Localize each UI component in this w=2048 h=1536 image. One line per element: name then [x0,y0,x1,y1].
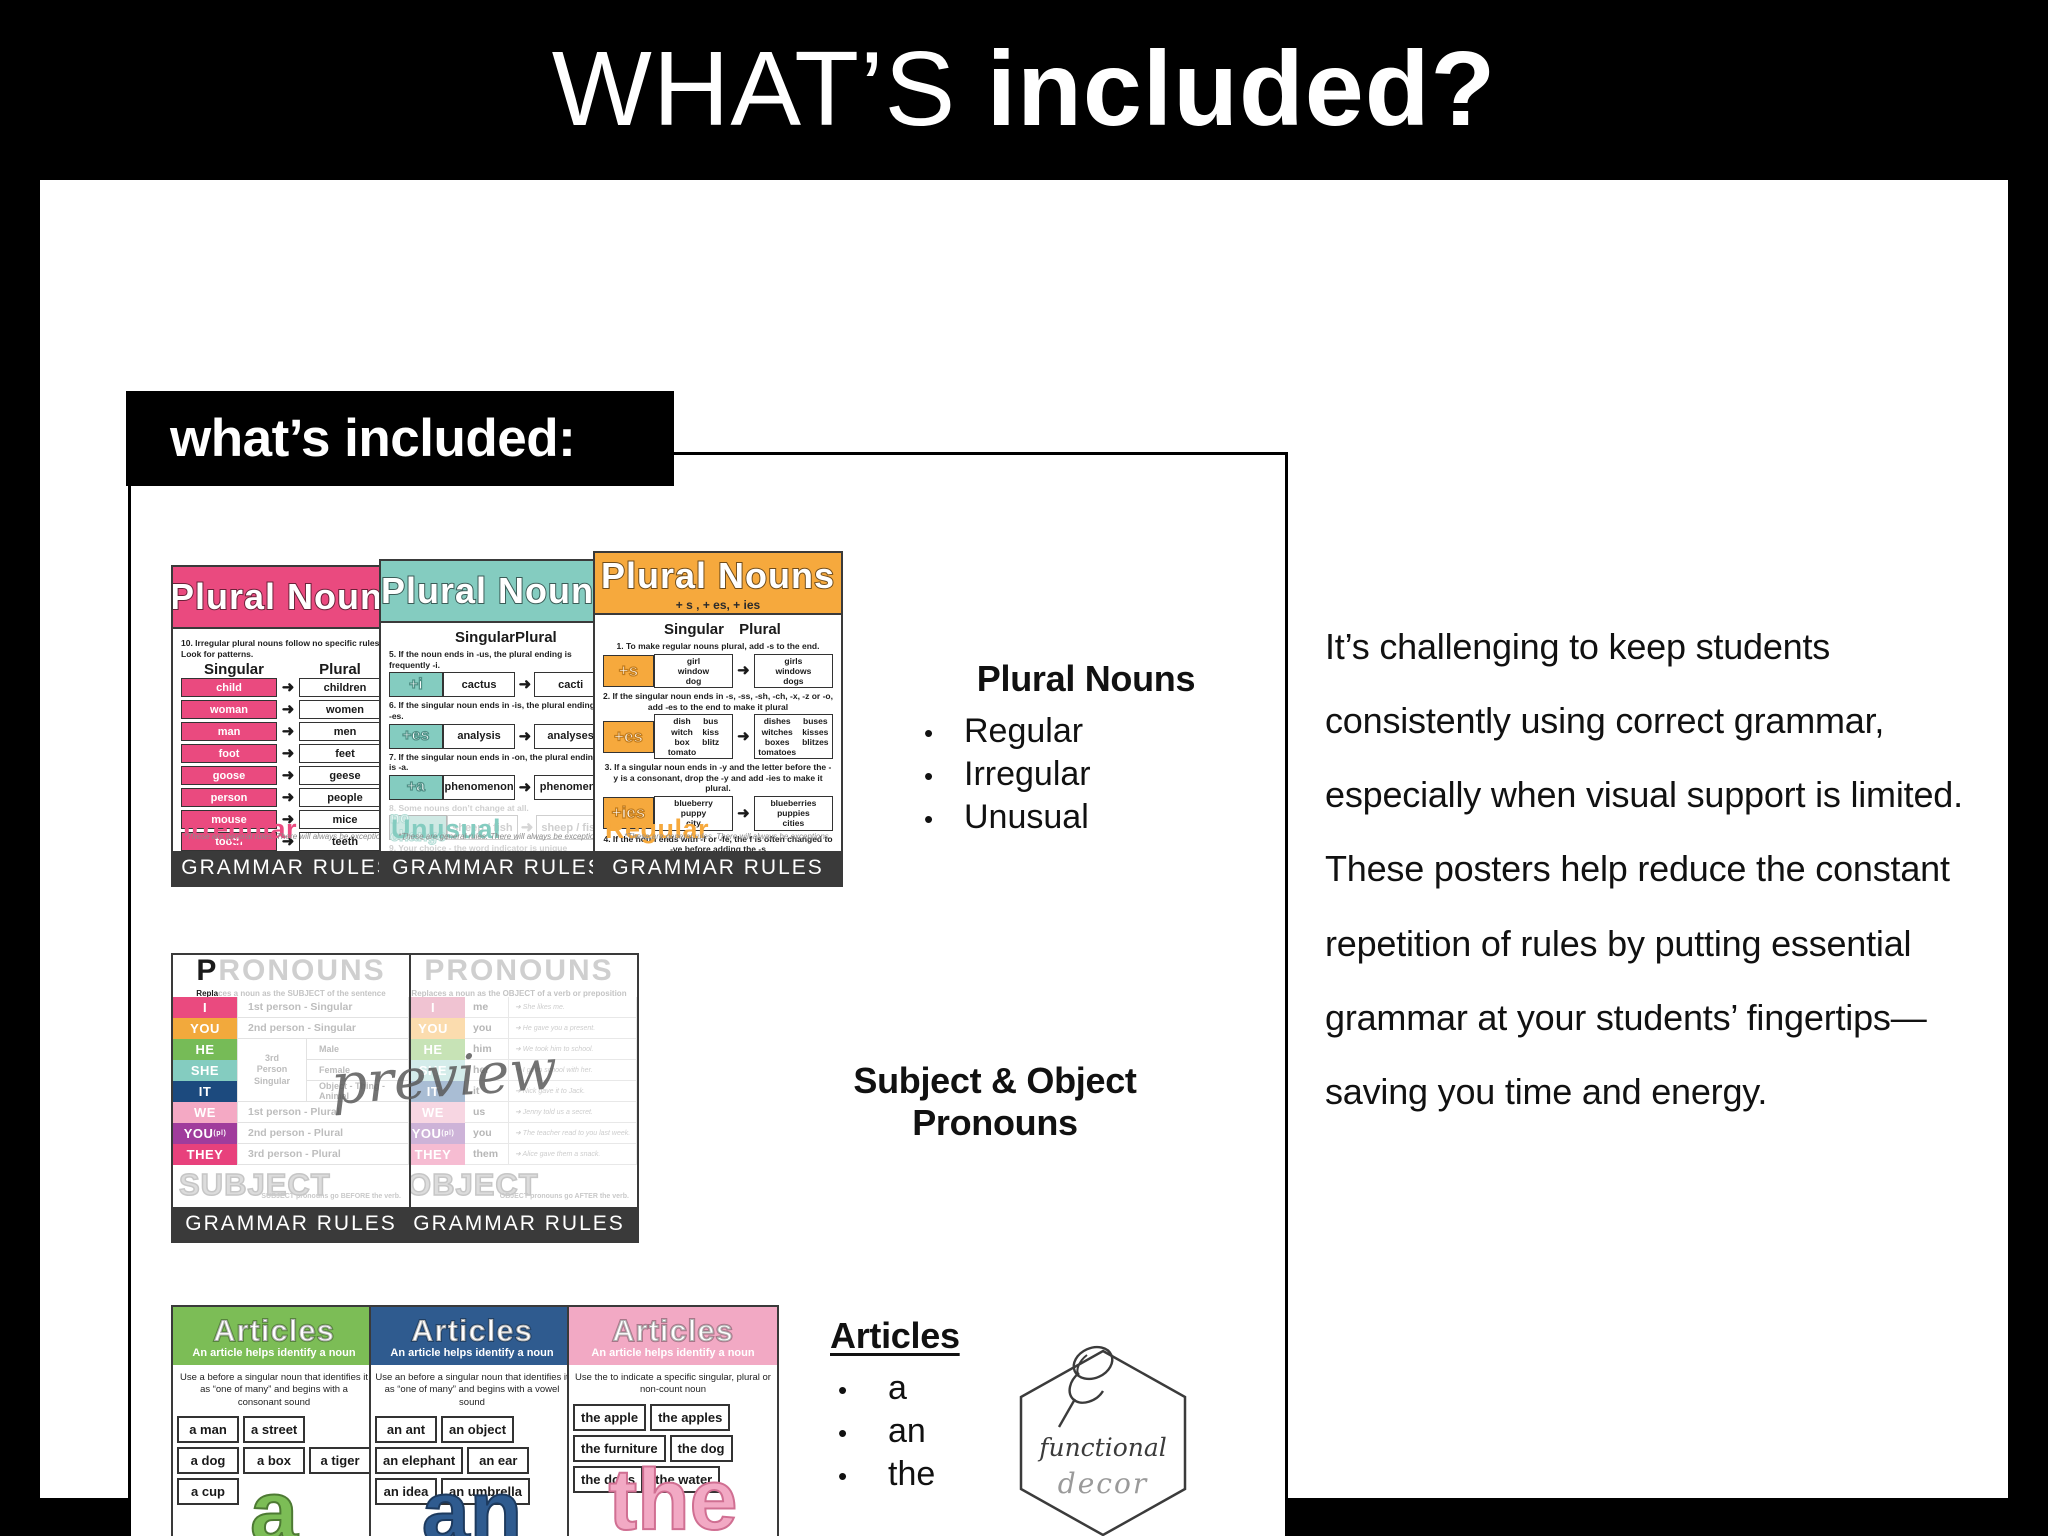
poster-header: Plural Nouns [381,561,615,623]
example-cell: an object [441,1416,514,1443]
table-row: foot➜feet [181,744,393,763]
example-sentence: ➜ Jenny told us a secret. [509,1102,637,1123]
bullet-icon: • [916,803,964,836]
table-row: woman➜women [181,700,393,719]
poster-title: PRONOUNS [196,954,385,988]
table-row: Ime➜ She likes me. [401,997,637,1018]
ending-tag: +i [389,672,443,697]
pronoun-chip: YOU(pl) [173,1123,237,1144]
bullet-icon: • [830,1460,888,1493]
rule-text: 6. If the singular noun ends in -is, the… [389,700,607,721]
example-sentence: ➜ We took him to school. [509,1039,637,1060]
column-header-plural: Plural [727,621,793,638]
page-title: WHAT’S included? [552,29,1496,150]
example-sentence: ➜ The teacher read to you last week. [509,1123,637,1144]
example-sentence: ➜ She likes me. [509,997,637,1018]
description-paragraph: It’s challenging to keep students consis… [1325,610,2015,1129]
pronoun-description: 2nd person - Plural [237,1123,409,1144]
singular-cell: person [181,788,277,807]
list-item-label: a [888,1367,907,1410]
singular-cell: cactus [443,672,516,697]
singular-cell: man [181,722,277,741]
table-row: ITit➜ Nick gave it to Jack. [401,1081,637,1102]
pronoun-description: 1st person - Singular [237,997,409,1018]
push-pin-icon [1047,1341,1133,1433]
arrow-icon: ➜ [277,702,299,717]
caption-title: Plural Nouns [916,658,1256,700]
example-cell: a street [243,1416,305,1443]
rule-text: 3. If a singular noun ends in -y and the… [603,762,833,794]
arrow-icon: ➜ [277,680,299,695]
list-item: •Irregular [916,753,1256,796]
poster-header: Plural Nouns + s , + es, + ies [595,553,841,615]
arrow-icon: ➜ [277,724,299,739]
object-pronouns-table: Ime➜ She likes me.YOUyou➜ He gave you a … [401,997,637,1165]
arrow-icon: ➜ [515,729,534,744]
brand-logo: functional decor [1005,1335,1201,1536]
poster-rule: 10. Irregular plural nouns follow no spe… [181,638,393,659]
list-item-label: Regular [964,710,1083,753]
poster-subtitle: An article helps identify a noun [591,1347,754,1359]
poster-body: Singular Plural 1. To make regular nouns… [595,615,841,887]
table-row: +sgirlwindowdog➜girlswindowsdogs [603,654,833,689]
caption-pronouns: Subject & Object Pronouns [780,1060,1210,1144]
poster-footer: GRAMMAR RULES [401,1207,637,1241]
bullet-icon: • [916,760,964,793]
plural-cell: mice [299,810,391,829]
table-row: +esdishwitchboxtomatobuskissblitz➜dishes… [603,714,833,759]
poster-note: OBJECT pronouns go AFTER the verb. [500,1192,629,1201]
rule-text: 7. If the singular noun ends in -on, the… [389,752,607,773]
table-row: person➜people [181,788,393,807]
bullet-icon: • [830,1417,888,1450]
pronoun-chip: YOU [173,1018,237,1039]
column-header-singular: Singular [181,661,287,678]
arrow-icon: ➜ [733,729,754,744]
pronoun-description: Female [307,1060,409,1081]
plural-cell: geese [299,766,391,785]
singular-cell: phenomenon [443,775,516,800]
table-row: SHEher➜ I go to school with her. [401,1060,637,1081]
rule-text: 2. If the singular noun ends in -s, -ss,… [603,691,833,712]
plural-cell: men [299,722,391,741]
plural-cell: women [299,700,391,719]
singular-cell: analysis [443,724,516,749]
poster-header: PRONOUNS Replaces a noun as the SUBJECT … [173,955,409,997]
pronoun-description: 1st person - Plural [237,1102,409,1123]
poster-plural-nouns-unusual[interactable]: Plural Nouns Singular Plural 5. If the n… [379,559,617,887]
poster-footer: GRAMMAR RULES [173,851,401,885]
pronoun-description: Male [307,1039,409,1060]
table-row: HEhim➜ We took him to school. [401,1039,637,1060]
poster-header: Articles An article helps identify a nou… [173,1307,375,1365]
arrow-icon: ➜ [515,677,534,692]
table-row: +icactus➜cacti [389,672,607,697]
list-item: •Unusual [916,796,1256,839]
poster-big-letter: an [371,1474,573,1536]
object-form: her [465,1060,509,1081]
poster-subtitle: An article helps identify a noun [390,1347,553,1359]
object-form: them [465,1144,509,1165]
poster-title-accent: P [196,954,218,987]
list-item: •Regular [916,710,1256,753]
poster-footer: GRAMMAR RULES [595,851,841,885]
arrow-icon: ➜ [277,790,299,805]
poster-header: Plural Nouns [173,567,401,629]
singular-cell: child [181,678,277,697]
table-row: THEYthem➜ Alice gave them a snack. [401,1144,637,1165]
poster-article-a[interactable]: Articles An article helps identify a nou… [171,1305,377,1536]
header-band: WHAT’S included? [0,0,2048,178]
singular-cell: foot [181,744,277,763]
pronoun-chip: I [173,997,237,1018]
poster-plural-nouns-regular[interactable]: Plural Nouns + s , + es, + ies Singular … [593,551,843,887]
table-row: goose➜geese [181,766,393,785]
example-sentence: ➜ I go to school with her. [509,1060,637,1081]
table-row: +aphenomenon➜phenomena [389,775,607,800]
caption-plural-nouns: Plural Nouns •Regular•Irregular•Unusual [916,658,1256,840]
poster-big-letter: a [173,1474,375,1536]
poster-title: PRONOUNS [424,954,613,988]
poster-subject-pronouns[interactable]: PRONOUNS Replaces a noun as the SUBJECT … [171,953,411,1243]
rule-block: 6. If the singular noun ends in -is, the… [389,700,607,748]
pronoun-chip: IT [173,1081,237,1102]
table-row: man➜men [181,722,393,741]
caption-list: •Regular•Irregular•Unusual [916,710,1256,840]
arrow-icon: ➜ [277,746,299,761]
ending-tag: +es [389,724,443,749]
example-sentence: ➜ He gave you a present. [509,1018,637,1039]
column-header-plural: Plural [287,661,393,678]
rule-text: 5. If the noun ends in -us, the plural e… [389,649,607,670]
object-form: him [465,1039,509,1060]
plural-cell: people [299,788,391,807]
pronoun-description: 2nd person - Singular [237,1018,409,1039]
table-row: +esanalysis➜analyses [389,724,607,749]
poster-description: Use a before a singular noun that identi… [177,1372,371,1409]
plural-cell: feet [299,744,391,763]
table-row: YOUyou➜ He gave you a present. [401,1018,637,1039]
rule-block: 7. If the singular noun ends in -on, the… [389,752,607,800]
poster-note: *These are general rules. There will alw… [184,832,391,843]
poster-title: Articles [612,1313,734,1349]
list-item-label: the [888,1453,935,1496]
poster-object-pronouns[interactable]: PRONOUNS Replaces a noun as the OBJECT o… [399,953,639,1243]
object-form: me [465,997,509,1018]
example-cell: a dog [177,1447,239,1474]
poster-title: Plural Nouns [381,570,615,612]
column-header-singular: Singular [455,629,515,646]
list-item-label: Unusual [964,796,1089,839]
caption-title-line1: Subject & Object [780,1060,1210,1102]
poster-subtitle: An article helps identify a noun [192,1347,355,1359]
table-row: THEY3rd person - Plural [173,1144,409,1165]
singular-cell: dishwitchboxtomatobuskissblitz [654,714,733,759]
table-row: WEus➜ Jenny told us a secret. [401,1102,637,1123]
poster-title: Plural Nouns [601,555,835,597]
object-form: you [465,1123,509,1144]
example-cell: an ant [375,1416,437,1443]
poster-note: *These are general rules. There will alw… [398,832,605,843]
poster-article-an[interactable]: Articles An article helps identify a nou… [369,1305,575,1536]
ending-tag: +a [389,775,443,800]
example-sentence: ➜ Nick gave it to Jack. [509,1081,637,1102]
pronoun-chip: HE [173,1039,237,1060]
third-person-label: 3rdPersonSingular [237,1039,307,1102]
singular-cell: goose [181,766,277,785]
poster-footer: GRAMMAR RULES [173,1207,409,1241]
example-sentence: ➜ Alice gave them a snack. [509,1144,637,1165]
table-row: YOU(pl)you➜ The teacher read to you last… [401,1123,637,1144]
logo-text-primary: functional [1005,1433,1201,1462]
pronoun-description: Object - Thing - Animal [307,1081,409,1102]
slide-body: what’s included: Plural Nouns 10. Irregu… [40,180,2008,1498]
card-tab: what’s included: [126,391,674,486]
arrow-icon: ➜ [733,663,754,678]
object-form: it [465,1081,509,1102]
column-header-plural: Plural [515,629,557,646]
singular-cell: woman [181,700,277,719]
pronoun-chip: SHE [173,1060,237,1081]
third-person-descriptions: MaleFemaleObject - Thing - Animal [307,1039,409,1102]
table-row: WE1st person - Plural [173,1102,409,1123]
caption-title-line2: Pronouns [780,1102,1210,1144]
rule-text: 1. To make regular nouns plural, add -s … [603,641,833,652]
example-cell: a man [177,1416,239,1443]
object-form: you [465,1018,509,1039]
card-tab-label: what’s included: [170,408,575,469]
arrow-icon: ➜ [733,806,754,821]
page-title-bold: included? [987,30,1497,148]
poster-title: Articles [411,1313,533,1349]
example-cell: a tiger [309,1447,371,1474]
example-cell: the apples [650,1404,730,1431]
ending-tag: +s [603,655,654,687]
ending-tag: +es [603,721,654,753]
table-row: child➜children [181,678,393,697]
pronoun-chip: THEY [173,1144,237,1165]
poster-note: SUBJECT pronouns go BEFORE the verb. [261,1192,401,1201]
poster-subtitle: + s , + es, + ies [676,598,760,612]
rule-block: 5. If the noun ends in -us, the plural e… [389,649,607,697]
poster-header: Articles An article helps identify a nou… [569,1307,777,1365]
poster-big-letter: the [569,1462,777,1536]
poster-header: Articles An article helps identify a nou… [371,1307,573,1365]
column-headers: Singular Plural [389,629,607,646]
poster-title: Articles [213,1313,335,1349]
column-headers: Singular Plural [181,661,393,678]
bullet-icon: • [916,717,964,750]
chip-column: HESHEIT [173,1039,237,1102]
poster-title: Plural Nouns [171,576,403,618]
singular-cell: girlwindowdog [654,654,733,689]
table-row: YOU2nd person - Singular [173,1018,409,1039]
poster-description: Use the to indicate a specific singular,… [573,1372,773,1397]
poster-body: Singular Plural 5. If the noun ends in -… [381,623,615,887]
arrow-icon: ➜ [515,780,534,795]
plural-cell: disheswitchesboxestomatoesbuseskissesbli… [754,714,833,759]
bullet-icon: • [830,1374,888,1407]
table-row: YOU(pl)2nd person - Plural [173,1123,409,1144]
arrow-icon: ➜ [277,768,299,783]
poster-plural-nouns-irregular[interactable]: Plural Nouns 10. Irregular plural nouns … [171,565,403,887]
list-item-label: Irregular [964,753,1091,796]
column-header-singular: Singular [661,621,727,638]
subject-pronouns-table: I1st person - SingularYOU2nd person - Si… [173,997,409,1165]
page-title-thin: WHAT’S [552,30,987,148]
unusual-rules-table: 5. If the noun ends in -us, the plural e… [389,649,607,881]
list-item-label: an [888,1410,926,1453]
plural-cell: children [299,678,391,697]
poster-note: *These are general rules. There will alw… [624,832,831,843]
poster-header: PRONOUNS Replaces a noun as the OBJECT o… [401,955,637,997]
column-headers: Singular Plural [603,621,833,638]
example-cell: the apple [573,1404,646,1431]
pronoun-description: 3rd person - Plural [237,1144,409,1165]
table-row: I1st person - Singular [173,997,409,1018]
object-form: us [465,1102,509,1123]
poster-description: Use an before a singular noun that ident… [375,1372,569,1409]
poster-article-the[interactable]: Articles An article helps identify a nou… [567,1305,779,1536]
poster-footer: GRAMMAR RULES [381,851,615,885]
slide-root: WHAT’S included? what’s included: Plural… [0,0,2048,1536]
plural-cell: girlswindowsdogs [754,654,833,689]
third-person-group: HESHEIT3rdPersonSingularMaleFemaleObject… [173,1039,409,1102]
plural-cell: blueberriespuppiescities [754,796,833,831]
pronoun-chip: WE [173,1102,237,1123]
logo-text-secondary: decor [1005,1467,1201,1500]
